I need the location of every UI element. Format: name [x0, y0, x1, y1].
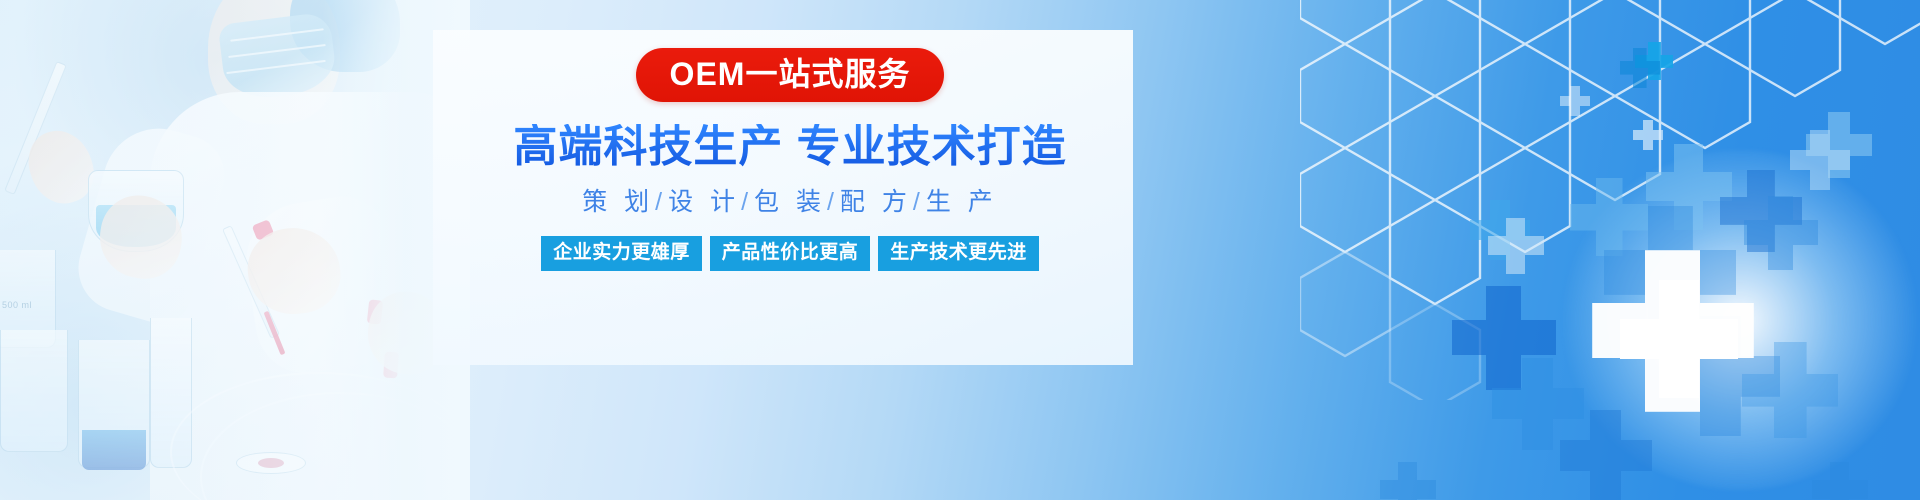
light-swoosh — [1400, 170, 1920, 500]
service-separator: / — [912, 188, 926, 216]
service-item-0: 策 划 — [582, 188, 654, 216]
lab-photo: 500 ml — [0, 0, 470, 500]
medical-cross-icon — [1560, 86, 1590, 116]
promo-banner: 500 ml — [0, 0, 1920, 500]
service-item-3: 配 方 — [840, 188, 912, 216]
service-item-4: 生 产 — [926, 188, 998, 216]
service-list: 策 划/设 计/包 装/配 方/生 产 — [510, 182, 1070, 218]
feature-tag-2[interactable]: 生产技术更先进 — [878, 236, 1039, 271]
service-item-1: 设 计 — [668, 188, 740, 216]
service-separator: / — [826, 188, 840, 216]
service-separator: / — [654, 188, 668, 216]
feature-tag-0[interactable]: 企业实力更雄厚 — [541, 236, 702, 271]
feature-tag-list: 企业实力更雄厚 产品性价比更高 生产技术更先进 — [510, 236, 1070, 271]
service-item-2: 包 装 — [754, 188, 826, 216]
feature-tag-1[interactable]: 产品性价比更高 — [710, 236, 871, 271]
content-block: OEM一站式服务 高端科技生产 专业技术打造 策 划/设 计/包 装/配 方/生… — [510, 48, 1070, 358]
headline: 高端科技生产 专业技术打造 — [510, 124, 1070, 170]
oem-service-badge: OEM一站式服务 — [636, 48, 945, 102]
medical-cross-icon — [1620, 48, 1660, 88]
service-separator: / — [740, 188, 754, 216]
